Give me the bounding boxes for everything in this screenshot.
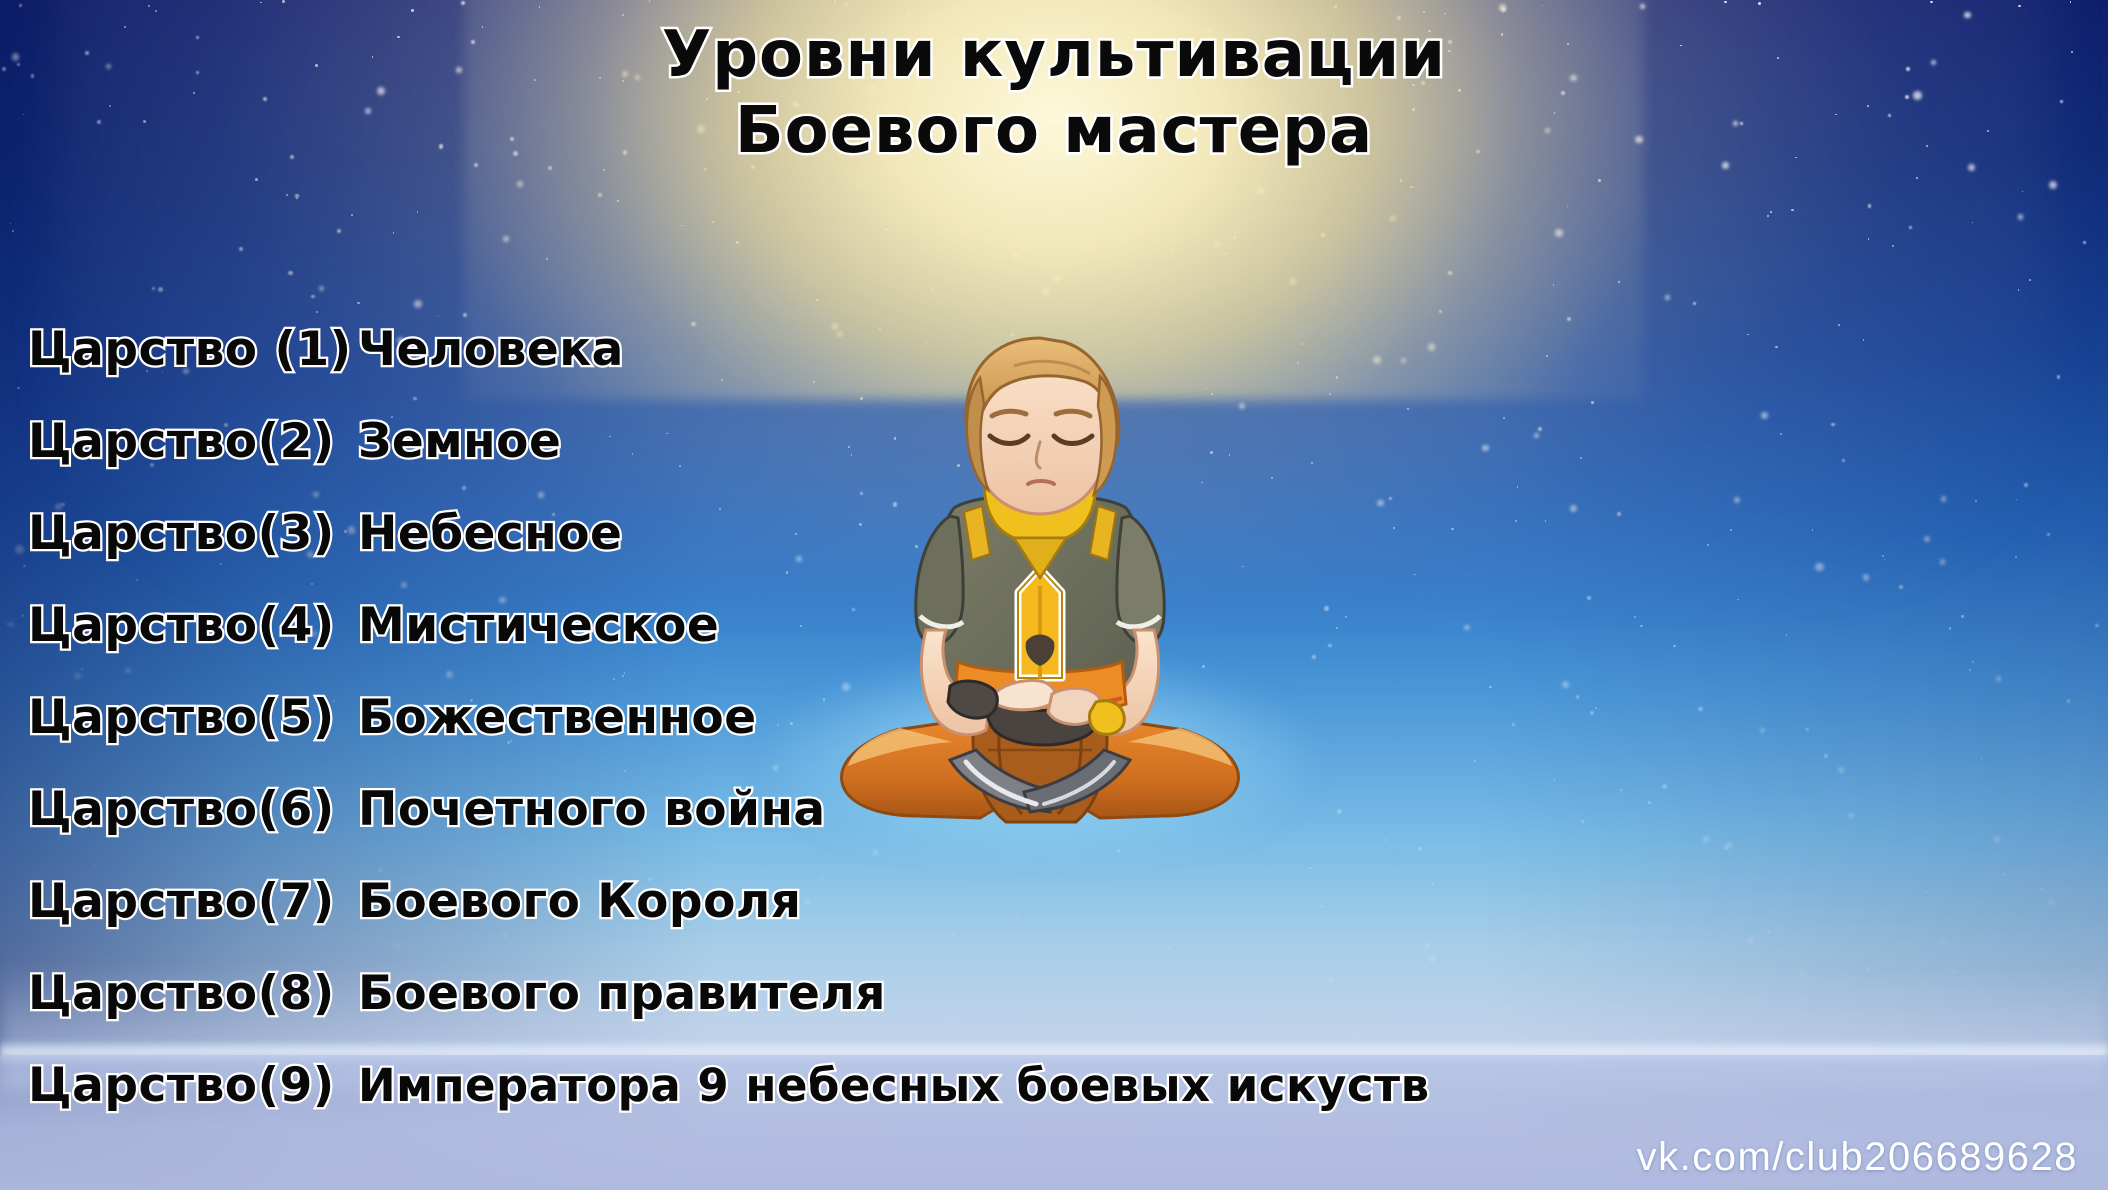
level-row: Царство(3)Небесное bbox=[0, 487, 1600, 579]
level-realm-label: Царство (1) bbox=[28, 322, 352, 377]
vk-watermark: vk.com/club206689628 bbox=[1637, 1135, 2078, 1180]
title-line-1: Уровни культивации bbox=[662, 18, 1446, 92]
level-realm-label: Царство(8) bbox=[28, 966, 335, 1021]
level-row: Царство(9)Императора 9 небесных боевых и… bbox=[0, 1039, 1600, 1131]
level-name-label: Человека bbox=[358, 322, 624, 377]
level-row: Царство(5)Божественное bbox=[0, 671, 1600, 763]
level-name-label: Боевого правителя bbox=[358, 966, 886, 1021]
level-row: Царство (1)Человека bbox=[0, 303, 1600, 395]
level-realm-label: Царство(9) bbox=[28, 1058, 335, 1113]
level-name-label: Земное bbox=[358, 414, 561, 469]
cultivation-levels-list: Царство (1)ЧеловекаЦарство(2)ЗемноеЦарст… bbox=[0, 303, 1600, 1131]
cultivation-levels-poster: Уровни культивации Боевого мастера Царст… bbox=[0, 0, 2108, 1190]
page-title: Уровни культивации Боевого мастера bbox=[0, 18, 2108, 169]
level-row: Царство(4)Мистическое bbox=[0, 579, 1600, 671]
level-realm-label: Царство(4) bbox=[28, 598, 335, 653]
level-name-label: Божественное bbox=[358, 690, 757, 745]
level-realm-label: Царство(7) bbox=[28, 874, 335, 929]
level-name-label: Небесное bbox=[358, 506, 622, 561]
level-realm-label: Царство(6) bbox=[28, 782, 335, 837]
level-row: Царство(2)Земное bbox=[0, 395, 1600, 487]
level-name-label: Боевого Короля bbox=[358, 874, 801, 929]
level-realm-label: Царство(2) bbox=[28, 414, 335, 469]
level-name-label: Мистическое bbox=[358, 598, 719, 653]
level-name-label: Императора 9 небесных боевых искуств bbox=[358, 1059, 1430, 1112]
level-row: Царство(8)Боевого правителя bbox=[0, 947, 1600, 1039]
level-realm-label: Царство(3) bbox=[28, 506, 335, 561]
title-line-2: Боевого мастера bbox=[0, 94, 2108, 170]
level-row: Царство(7)Боевого Короля bbox=[0, 855, 1600, 947]
level-row: Царство(6)Почетного война bbox=[0, 763, 1600, 855]
level-name-label: Почетного война bbox=[358, 782, 826, 837]
level-realm-label: Царство(5) bbox=[28, 690, 335, 745]
